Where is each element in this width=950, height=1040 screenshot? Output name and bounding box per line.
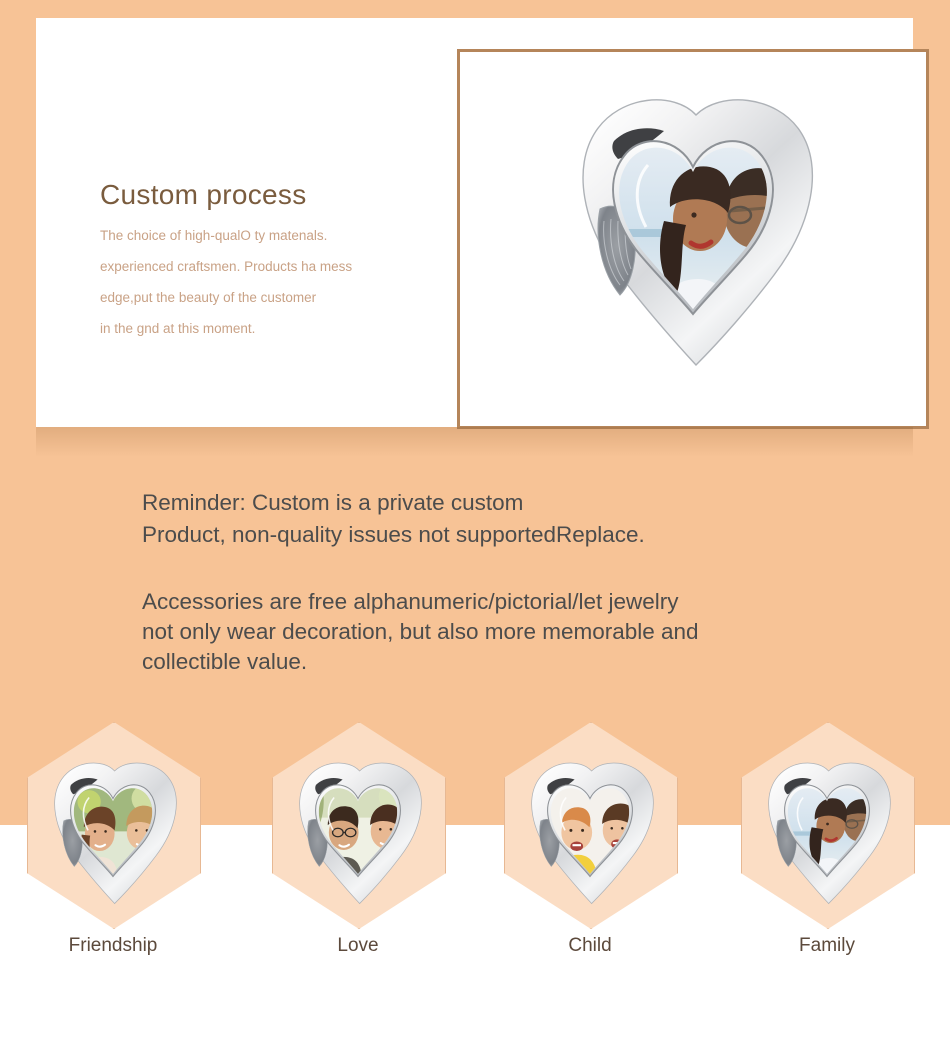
hero-description-line: edge,put the beauty of the customer <box>100 282 450 313</box>
thumbnail-item-child[interactable]: Child <box>504 722 676 927</box>
heart-photo-charm-icon <box>26 761 201 913</box>
hero-description-line: experienced craftsmen. Products ha mess <box>100 251 450 282</box>
page-title: Custom process <box>100 178 450 212</box>
accessories-line: collectible value. <box>142 647 922 677</box>
heart-photo-charm-icon <box>503 761 678 913</box>
hero-description-line: The choice of high-qualO ty matenals. <box>100 220 450 251</box>
reminder-spacer <box>142 551 922 587</box>
thumbnail-label: Child <box>504 935 676 957</box>
thumbnail-item-love[interactable]: Love <box>272 722 444 927</box>
heart-photo-charm-icon <box>271 761 446 913</box>
thumbnail-label: Family <box>741 935 913 957</box>
accessories-line: Accessories are free alphanumeric/pictor… <box>142 587 922 617</box>
heart-photo-charm-icon <box>528 97 858 382</box>
thumbnail-row: Friendship <box>0 722 950 952</box>
product-image-frame <box>457 49 929 429</box>
thumbnail-item-friendship[interactable]: Friendship <box>27 722 199 927</box>
accessories-line: not only wear decoration, but also more … <box>142 617 922 647</box>
thumbnail-label: Friendship <box>27 935 199 957</box>
hero-text-block: Custom process The choice of high-qualO … <box>100 178 450 344</box>
reminder-block: Reminder: Custom is a private custom Pro… <box>142 487 922 677</box>
reminder-line: Reminder: Custom is a private custom <box>142 487 922 519</box>
thumbnail-item-family[interactable]: Family <box>741 722 913 927</box>
hero-card: Custom process The choice of high-qualO … <box>36 18 913 427</box>
thumbnail-label: Love <box>272 935 444 957</box>
product-image-stage <box>460 52 926 426</box>
hero-description-line: in the gnd at this moment. <box>100 313 450 344</box>
reminder-line: Product, non-quality issues not supporte… <box>142 519 922 551</box>
heart-photo-charm-icon <box>740 761 915 913</box>
hero-description: The choice of high-qualO ty matenals. ex… <box>100 220 450 344</box>
